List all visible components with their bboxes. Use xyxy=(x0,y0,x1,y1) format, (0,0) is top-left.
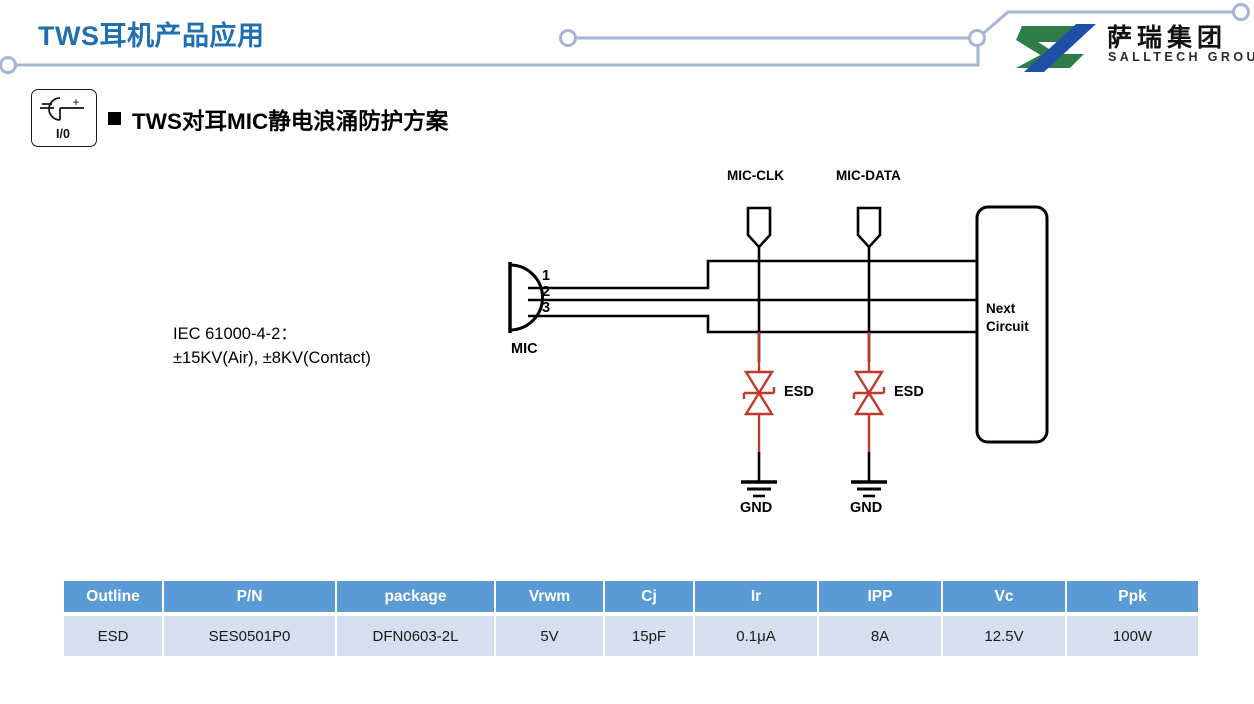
table-cell-ir: 0.1μA xyxy=(694,614,818,656)
brand-logo: 萨瑞集团 SALLTECH GROUP xyxy=(1012,18,1244,76)
logo-english-name: SALLTECH GROUP xyxy=(1108,50,1254,64)
mic-label: MIC xyxy=(511,341,538,357)
table-col-ipp: IPP xyxy=(818,581,942,614)
table-cell-vrwm: 5V xyxy=(495,614,604,656)
iec-note-line2: ±15KV(Air), ±8KV(Contact) xyxy=(173,347,371,371)
next-circuit-label-line2: Circuit xyxy=(986,318,1029,336)
mic-pin-2-label: 2 xyxy=(542,284,550,300)
gnd-left-label: GND xyxy=(740,500,772,516)
mic-symbol xyxy=(510,262,543,333)
section-title: TWS对耳MIC静电浪涌防护方案 xyxy=(132,104,448,136)
mic-data-port-icon xyxy=(858,208,880,247)
io-protection-icon: + – I/0 xyxy=(31,89,97,147)
deco-node-right xyxy=(970,31,985,46)
table-cell-ppk: 100W xyxy=(1066,614,1198,656)
table-col-vrwm: Vrwm xyxy=(495,581,604,614)
table-cell-outline: ESD xyxy=(64,614,163,656)
esd-right-label: ESD xyxy=(894,384,924,400)
esd-device-right xyxy=(854,332,884,452)
next-circuit-label: Next Circuit xyxy=(986,300,1029,336)
ground-symbol-right xyxy=(851,452,887,496)
table-cell-package: DFN0603-2L xyxy=(336,614,495,656)
mic-clk-label: MIC-CLK xyxy=(727,168,784,183)
mic-clk-port-icon xyxy=(748,208,770,247)
mic-pin-1-label: 1 xyxy=(542,268,550,284)
mic-data-label: MIC-DATA xyxy=(836,168,901,183)
slide-canvas: TWS耳机产品应用 萨瑞集团 SALLTECH GROUP xyxy=(0,0,1254,704)
mic-wire-group xyxy=(528,261,982,332)
table-col-vc: Vc xyxy=(942,581,1066,614)
io-symbol-icon: + – I/0 xyxy=(32,90,94,144)
io-icon-minus: – xyxy=(42,96,49,110)
circuit-diagram: 1 2 3 xyxy=(480,150,1120,540)
table-cell-vc: 12.5V xyxy=(942,614,1066,656)
next-circuit-label-line1: Next xyxy=(986,300,1029,318)
iec-note-line1: IEC 61000-4-2： xyxy=(173,323,371,347)
table-row: ESD SES0501P0 DFN0603-2L 5V 15pF 0.1μA 8… xyxy=(64,614,1198,656)
table-col-cj: Cj xyxy=(604,581,694,614)
io-icon-plus: + xyxy=(72,95,79,109)
deco-node-mid xyxy=(561,31,576,46)
deco-node-left xyxy=(1,58,16,73)
spec-table: Outline P/N package Vrwm Cj Ir IPP Vc Pp… xyxy=(64,581,1198,656)
table-col-package: package xyxy=(336,581,495,614)
salltech-logo-mark xyxy=(1012,20,1100,74)
table-col-ppk: Ppk xyxy=(1066,581,1198,614)
iec-standard-note: IEC 61000-4-2： ±15KV(Air), ±8KV(Contact) xyxy=(173,323,371,371)
esd-device-left xyxy=(744,332,774,452)
section-bullet-icon xyxy=(108,112,121,125)
logo-chinese-name: 萨瑞集团 xyxy=(1107,18,1227,54)
table-cell-ipp: 8A xyxy=(818,614,942,656)
table-cell-pn: SES0501P0 xyxy=(163,614,336,656)
gnd-right-label: GND xyxy=(850,500,882,516)
esd-left-label: ESD xyxy=(784,384,814,400)
table-header-row: Outline P/N package Vrwm Cj Ir IPP Vc Pp… xyxy=(64,581,1198,614)
table-cell-cj: 15pF xyxy=(604,614,694,656)
mic-pin-3-label: 3 xyxy=(542,300,550,316)
table-col-outline: Outline xyxy=(64,581,163,614)
io-icon-label: I/0 xyxy=(56,127,70,141)
ground-symbol-left xyxy=(741,452,777,496)
table-col-ir: Ir xyxy=(694,581,818,614)
page-title: TWS耳机产品应用 xyxy=(38,14,265,53)
table-col-pn: P/N xyxy=(163,581,336,614)
